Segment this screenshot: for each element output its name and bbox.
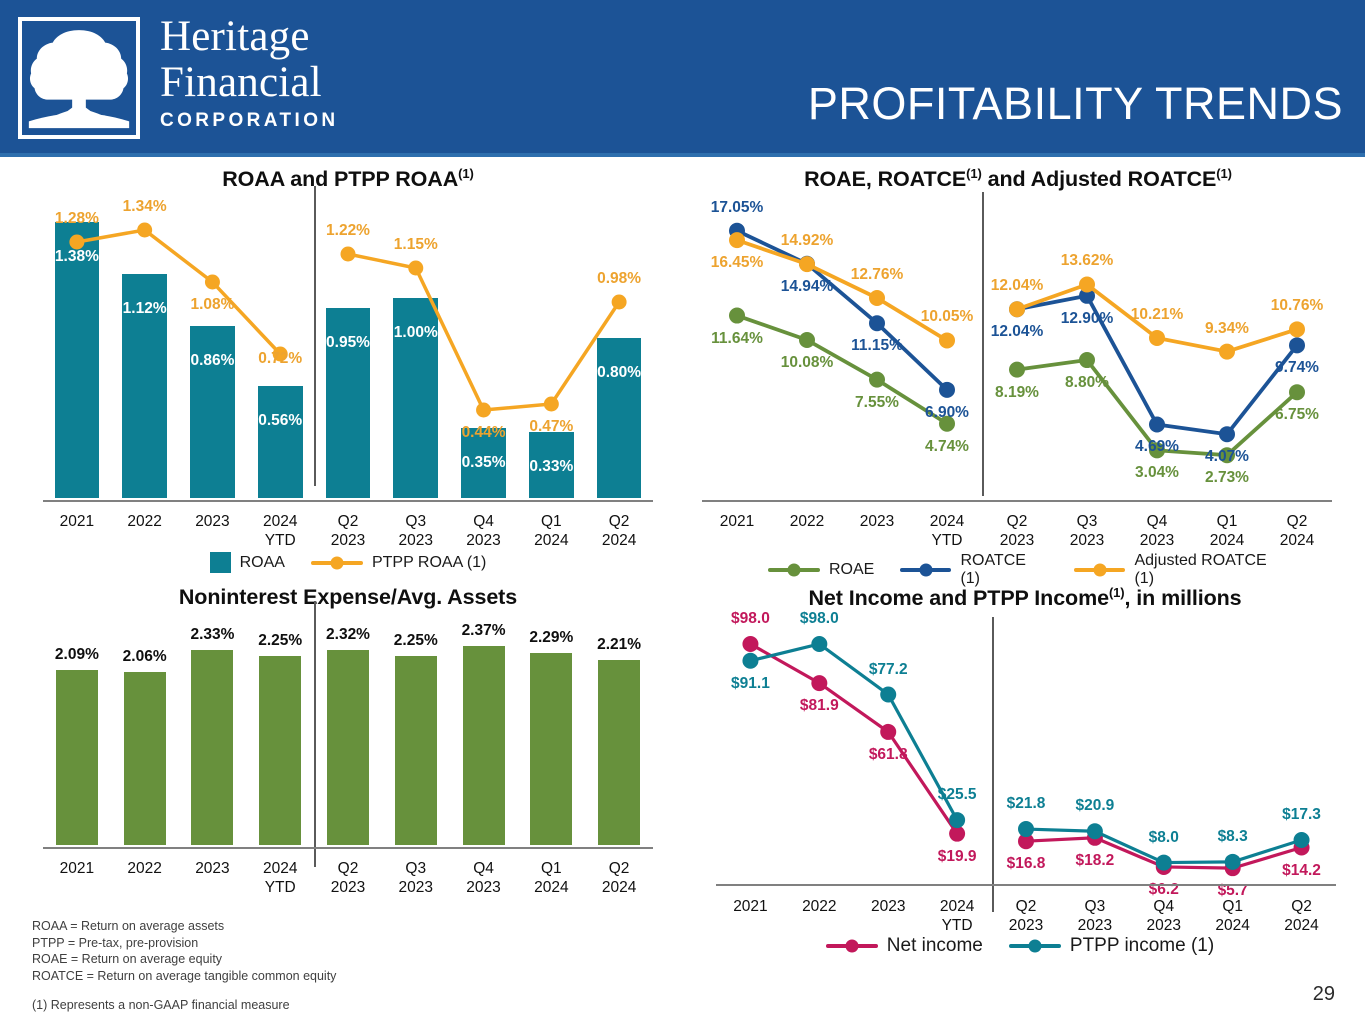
line-label-adj-roatce: 10.21% — [1117, 306, 1197, 324]
legend-label-ptpp-roaa: PTPP ROAA (1) — [372, 554, 486, 572]
legend-line-ptpp-roaa — [311, 561, 363, 565]
x-axis-tick: Q32023 — [382, 859, 450, 897]
bar-noninterest-expense — [124, 672, 166, 845]
line-label-ptpp-roaa: 1.08% — [172, 296, 252, 314]
x-axis-tick: 2021 — [702, 512, 772, 531]
legend-label-adj-roatce: Adjusted ROATCE (1) — [1134, 552, 1288, 588]
chart-netincome-panel: Net Income and PTPP Income(1), in millio… — [700, 585, 1350, 975]
bar-label-noninterest-expense: 2.21% — [579, 636, 659, 654]
legend-item-adj-roatce: Adjusted ROATCE (1) — [1074, 552, 1288, 588]
brand-line-3: CORPORATION — [160, 110, 339, 132]
chart-roaa-panel: ROAA and PTPP ROAA(1) 1.38%1.12%0.86%0.5… — [28, 166, 668, 586]
line-label-adj-roatce: 9.34% — [1187, 320, 1267, 338]
line-label-ptpp-income: $91.1 — [710, 675, 790, 693]
x-axis-tick: 2022 — [111, 859, 179, 878]
line-label-ptpp-income: $98.0 — [779, 610, 859, 628]
x-axis-tick: Q22024 — [585, 512, 653, 550]
bar-label-noninterest-expense: 2.06% — [105, 648, 185, 666]
x-axis-tick: Q12024 — [517, 512, 585, 550]
legend-item-ptpp-income: PTPP income (1) — [1009, 935, 1214, 957]
x-axis-tick: Q42023 — [1129, 897, 1198, 935]
footnote-roatce: ROATCE = Return on average tangible comm… — [32, 968, 336, 985]
chart-nie-axis — [43, 847, 653, 849]
chart-roae-plot: 11.64%10.08%7.55%4.74%8.19%8.80%3.04%2.7… — [702, 208, 1332, 498]
header-rule — [0, 153, 1365, 157]
chart-netincome-title: Net Income and PTPP Income(1), in millio… — [700, 585, 1350, 611]
legend-item-net-income: Net income — [826, 935, 983, 957]
slide: Heritage Financial CORPORATION PROFITABI… — [0, 0, 1365, 1024]
legend-label-ptpp-income: PTPP income (1) — [1070, 935, 1214, 957]
line-label-adj-roatce: 14.92% — [767, 232, 847, 250]
x-axis-tick: Q12024 — [1192, 512, 1262, 550]
bar-noninterest-expense — [56, 670, 98, 845]
x-axis-tick: 2023 — [854, 897, 923, 916]
chart-roae-title-text: ROAE, ROATCE — [804, 167, 966, 191]
chart-nie-title: Noninterest Expense/Avg. Assets — [28, 585, 668, 610]
footnotes-block: ROAA = Return on average assets PTPP = P… — [32, 918, 336, 984]
x-axis-tick: Q22023 — [314, 512, 382, 550]
chart-roae-title-sup2: (1) — [1216, 166, 1232, 181]
x-axis-tick: Q22024 — [585, 859, 653, 897]
x-axis-tick: Q12024 — [1198, 897, 1267, 935]
footnote-roae: ROAE = Return on average equity — [32, 951, 336, 968]
x-axis-tick: Q22024 — [1267, 897, 1336, 935]
legend-line-roatce — [900, 568, 951, 572]
bar-noninterest-expense — [530, 653, 572, 845]
x-axis-tick: 2023 — [179, 512, 247, 531]
heritage-logo — [18, 17, 140, 139]
brand-line-1: Heritage — [160, 14, 339, 60]
tree-icon — [22, 21, 136, 135]
bar-noninterest-expense — [463, 646, 505, 845]
chart-roae-legend: ROAE ROATCE (1) Adjusted ROATCE (1) — [768, 552, 1288, 588]
chart-nie-panel: Noninterest Expense/Avg. Assets 2.09%2.0… — [28, 585, 668, 915]
line-label-ptpp-income: $20.9 — [1055, 797, 1135, 815]
x-axis-tick: 2024YTD — [246, 512, 314, 550]
legend-item-roaa: ROAA — [210, 552, 285, 573]
line-label-adj-roatce: 12.04% — [977, 277, 1057, 295]
chart-netincome-title-tail: , in millions — [1125, 586, 1242, 610]
line-label-adj-roatce: 16.45% — [697, 254, 777, 272]
chart-roaa-title-sup: (1) — [458, 166, 474, 181]
x-axis-tick: 2023 — [179, 859, 247, 878]
legend-item-roae: ROAE — [768, 561, 874, 579]
x-axis-tick: 2021 — [43, 512, 111, 531]
chart-roaa-axis — [43, 500, 653, 502]
bar-noninterest-expense — [395, 656, 437, 845]
line-label-adj-roatce: 10.05% — [907, 308, 987, 326]
chart-roaa-legend: ROAA PTPP ROAA (1) — [168, 552, 528, 573]
x-axis-tick: Q22023 — [314, 859, 382, 897]
line-label-ptpp-roaa: 0.47% — [511, 418, 591, 436]
line-label-ptpp-roaa: 0.98% — [579, 270, 659, 288]
x-axis-tick: Q32023 — [382, 512, 450, 550]
legend-line-roae — [768, 568, 820, 572]
brand-wordmark: Heritage Financial CORPORATION — [160, 14, 339, 132]
line-label-adj-roatce: 13.62% — [1047, 252, 1127, 270]
legend-label-net-income: Net income — [887, 935, 983, 957]
x-axis-tick: 2024YTD — [923, 897, 992, 935]
x-axis-tick: 2024YTD — [246, 859, 314, 897]
legend-line-adj-roatce — [1074, 568, 1125, 572]
chart-roaa-title: ROAA and PTPP ROAA(1) — [28, 166, 668, 192]
chart-netincome-legend: Net income PTPP income (1) — [810, 935, 1230, 957]
brand-line-2: Financial — [160, 60, 339, 106]
bar-noninterest-expense — [259, 656, 301, 845]
chart-roae-title-tail: and Adjusted ROATCE — [982, 167, 1217, 191]
chart-roae-title: ROAE, ROATCE(1) and Adjusted ROATCE(1) — [688, 166, 1348, 192]
x-axis-tick: 2022 — [785, 897, 854, 916]
chart-netincome-title-text: Net Income and PTPP Income — [808, 586, 1108, 610]
x-axis-tick: Q22023 — [992, 897, 1061, 935]
line-label-adj-roatce: 12.76% — [837, 266, 917, 284]
chart-roae-title-sup: (1) — [966, 166, 982, 181]
chart-roae-panel: ROAE, ROATCE(1) and Adjusted ROATCE(1) 1… — [688, 166, 1348, 586]
footnote-ptpp: PTPP = Pre-tax, pre-provision — [32, 935, 336, 952]
page-number: 29 — [1313, 983, 1335, 1006]
chart-roae-axis — [702, 500, 1332, 502]
x-axis-tick: Q32023 — [1060, 897, 1129, 935]
period-divider — [314, 601, 316, 867]
footnote-roaa: ROAA = Return on average assets — [32, 918, 336, 935]
legend-line-net-income — [826, 944, 878, 948]
x-axis-tick: Q42023 — [450, 512, 518, 550]
legend-label-roatce: ROATCE (1) — [960, 552, 1048, 588]
x-axis-tick: Q12024 — [517, 859, 585, 897]
x-axis-tick: 2021 — [43, 859, 111, 878]
x-axis-tick: 2023 — [842, 512, 912, 531]
bar-noninterest-expense — [327, 650, 369, 845]
line-label-ptpp-roaa: 0.72% — [240, 350, 320, 368]
legend-label-roaa: ROAA — [240, 554, 285, 572]
legend-item-roatce: ROATCE (1) — [900, 552, 1048, 588]
line-label-ptpp-roaa: 1.15% — [376, 236, 456, 254]
chart-netincome-axis — [716, 884, 1336, 886]
line-label-adj-roatce: 10.76% — [1257, 297, 1337, 315]
x-axis-tick: Q22023 — [982, 512, 1052, 550]
x-axis-tick: 2022 — [772, 512, 842, 531]
chart-nie-plot: 2.09%2.06%2.33%2.25%2.32%2.25%2.37%2.29%… — [43, 627, 653, 845]
line-label-ptpp-income: $77.2 — [848, 661, 928, 679]
bar-noninterest-expense — [598, 660, 640, 845]
legend-swatch-roaa — [210, 552, 231, 573]
bar-noninterest-expense — [191, 650, 233, 845]
series-adj-roatce — [702, 208, 1332, 498]
line-label-ptpp-income: $8.3 — [1193, 828, 1273, 846]
slide-header: Heritage Financial CORPORATION PROFITABI… — [0, 0, 1365, 157]
legend-line-ptpp-income — [1009, 944, 1061, 948]
x-axis-tick: Q42023 — [450, 859, 518, 897]
x-axis-tick: Q22024 — [1262, 512, 1332, 550]
legend-item-ptpp-roaa: PTPP ROAA (1) — [311, 554, 486, 572]
chart-netincome-plot: $98.0$81.9$61.8$19.9$16.8$18.2$6.2$5.7$1… — [716, 627, 1336, 882]
page-title: PROFITABILITY TRENDS — [808, 78, 1343, 130]
x-axis-tick: 2021 — [716, 897, 785, 916]
x-axis-tick: Q32023 — [1052, 512, 1122, 550]
chart-roaa-title-text: ROAA and PTPP ROAA — [222, 167, 458, 191]
line-label-ptpp-roaa: 1.34% — [105, 198, 185, 216]
legend-label-roae: ROAE — [829, 561, 874, 579]
x-axis-tick: 2022 — [111, 512, 179, 531]
x-axis-tick: 2024YTD — [912, 512, 982, 550]
chart-roaa-plot: 1.38%1.12%0.86%0.56%0.95%1.00%0.35%0.33%… — [43, 208, 653, 498]
series-ptpp-roaa — [43, 208, 653, 498]
chart-netincome-title-sup: (1) — [1109, 585, 1125, 600]
footnote-nongaap: (1) Represents a non-GAAP financial meas… — [32, 998, 290, 1012]
x-axis-tick: Q42023 — [1122, 512, 1192, 550]
line-label-ptpp-income: $17.3 — [1262, 806, 1342, 824]
